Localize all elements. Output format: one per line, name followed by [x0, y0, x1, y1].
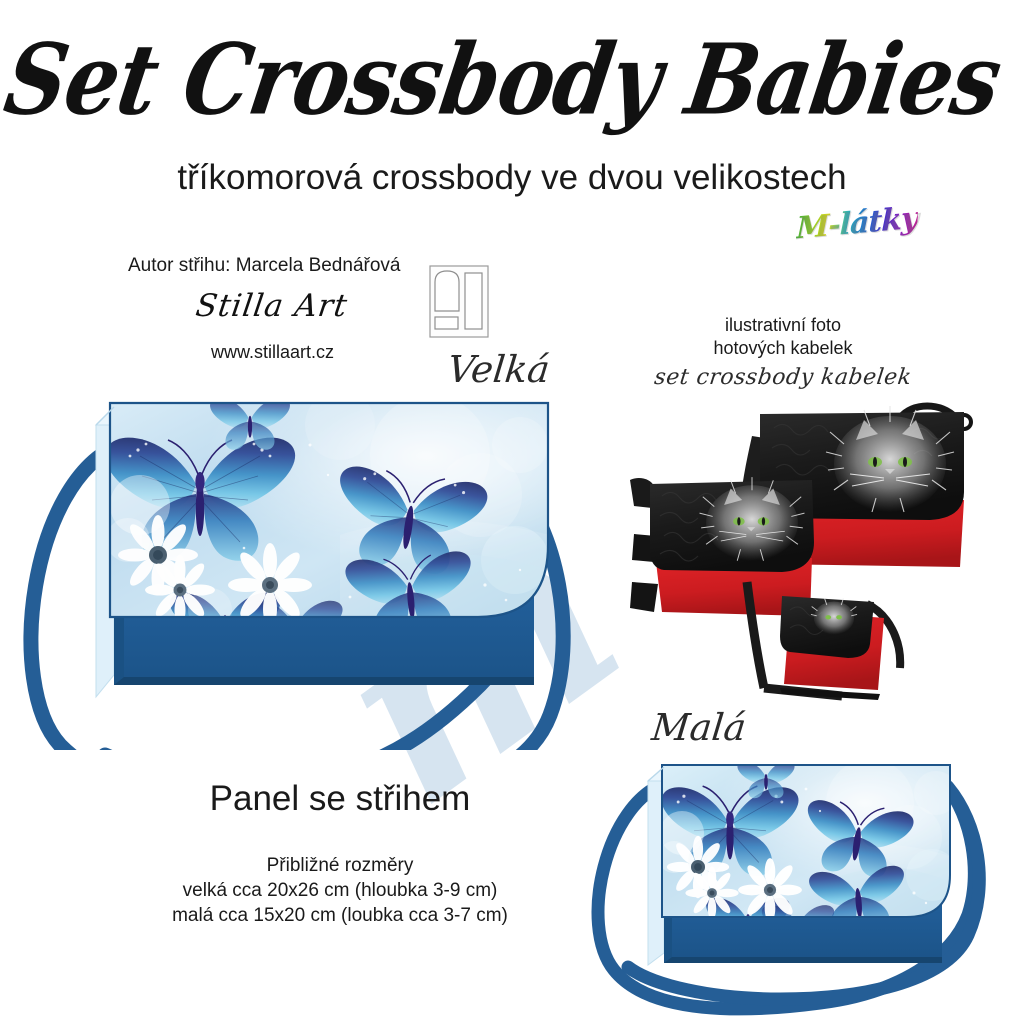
small-bag-illustration	[570, 745, 1020, 1020]
page-title: Set Crossbody Babies	[0, 22, 1024, 137]
pattern-layout-icon	[429, 265, 489, 338]
photo-caption-line1: ilustrativní foto	[618, 314, 948, 337]
photo-caption: ilustrativní foto hotových kabelek	[618, 314, 948, 360]
page-subtitle: tříkomorová crossbody ve dvou velikostec…	[0, 158, 1024, 198]
panel-title: Panel se střihem	[130, 779, 550, 819]
author-signature: Stilla Art	[193, 288, 349, 324]
finished-bags-photo	[612, 392, 1012, 722]
author-credit: Autor střihu: Marcela Bednářová	[128, 255, 400, 277]
photo-caption-line2: hotových kabelek	[618, 337, 948, 360]
photo-caption-script: set crossbody kabelek	[616, 365, 949, 390]
dimensions-small: malá cca 15x20 cm (loubka cca 3-7 cm)	[130, 903, 550, 928]
dimensions-block: Přibližné rozměry velká cca 20x26 cm (hl…	[130, 853, 550, 928]
dimensions-large: velká cca 20x26 cm (hloubka 3-9 cm)	[130, 878, 550, 903]
author-website[interactable]: www.stillaart.cz	[211, 342, 334, 363]
large-bag-illustration	[10, 385, 630, 750]
dimensions-heading: Přibližné rozměry	[130, 853, 550, 878]
brand-logo: M-látky	[796, 201, 918, 247]
poster-canvas: m Set Crossbody Babies tříkomorová cross…	[0, 0, 1024, 1024]
